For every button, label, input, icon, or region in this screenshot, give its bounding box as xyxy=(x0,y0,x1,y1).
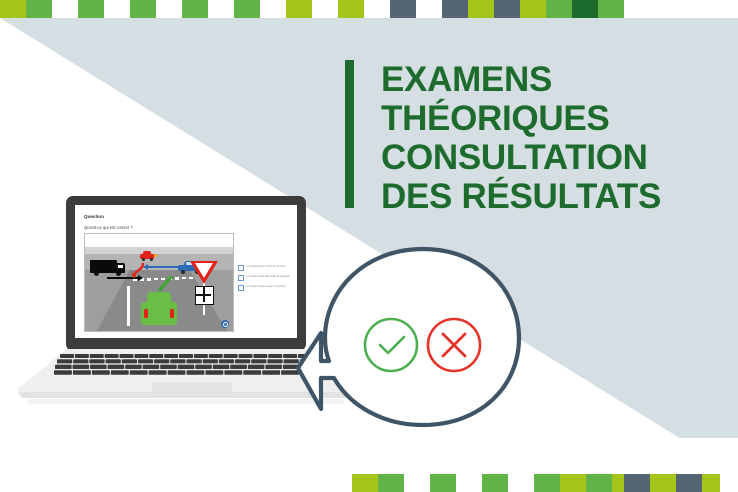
truck-wheel-front xyxy=(116,271,121,276)
keyboard-key xyxy=(209,354,223,358)
laptop-trackpad xyxy=(152,382,232,395)
road-situation-diagram xyxy=(84,233,234,332)
keyboard-key xyxy=(138,359,153,363)
answer-checkbox-2[interactable] xyxy=(238,275,244,281)
strip-segment xyxy=(676,474,702,492)
strip-segment xyxy=(338,0,364,18)
keyboard-key xyxy=(170,359,185,363)
arrow-blue-icon xyxy=(147,266,179,268)
strip-segment xyxy=(598,0,624,18)
red-car-wheel-left xyxy=(142,258,145,261)
strip-segment xyxy=(0,0,26,18)
answer-label-1: Le camion peut continuer sa route xyxy=(247,265,286,268)
green-car-taillight-right xyxy=(170,309,174,318)
keyboard-key xyxy=(73,365,90,369)
strip-segment xyxy=(494,0,520,18)
vehicle-car-green xyxy=(141,292,177,325)
keyboard-key xyxy=(224,354,238,358)
keyboard-key xyxy=(262,370,280,375)
keyboard-key xyxy=(179,354,193,358)
strip-segment xyxy=(352,474,378,492)
strip-segment xyxy=(78,0,104,18)
keyboard-key xyxy=(106,359,121,363)
answer-label-2: La voiture verte doit céder le passage xyxy=(247,275,290,278)
keyboard-key xyxy=(219,359,234,363)
keyboard-key xyxy=(268,354,282,358)
strip-segment xyxy=(390,0,416,18)
strip-segment xyxy=(702,474,720,492)
keyboard-key xyxy=(108,365,125,369)
keyboard-key xyxy=(187,370,205,375)
keyboard-key xyxy=(213,365,230,369)
keyboard-key xyxy=(203,359,218,363)
green-car-taillight-left xyxy=(144,309,148,318)
strip-segment xyxy=(572,0,598,18)
keyboard-key xyxy=(195,365,212,369)
keyboard-key xyxy=(54,370,72,375)
keyboard-key xyxy=(130,370,148,375)
vehicle-car-red xyxy=(140,250,154,259)
question-label: Question xyxy=(84,214,104,219)
answer-option-list: Le camion peut continuer sa route La voi… xyxy=(238,265,290,295)
red-car-wheel-right xyxy=(150,258,153,261)
laptop-keyboard xyxy=(54,354,318,378)
amber-light-icon xyxy=(154,254,157,257)
keyboard-key xyxy=(251,359,266,363)
lane-dash-7 xyxy=(175,277,179,280)
strip-segment xyxy=(378,474,404,492)
strip-segment xyxy=(286,0,312,18)
scene-sky xyxy=(85,234,233,247)
keyboard-key xyxy=(55,365,72,369)
keyboard-key xyxy=(230,365,247,369)
keyboard-key xyxy=(149,354,163,358)
decorative-strip-top xyxy=(0,0,738,18)
strip-segment xyxy=(520,0,546,18)
answer-checkbox-1[interactable] xyxy=(238,265,244,271)
keyboard-key xyxy=(90,354,104,358)
yield-sign-inner xyxy=(195,263,213,278)
strip-segment xyxy=(182,0,208,18)
keyboard-key xyxy=(239,354,253,358)
keyboard-key xyxy=(143,365,160,369)
blue-car-wheel-left xyxy=(181,270,185,274)
strip-segment xyxy=(546,0,572,18)
keyboard-key xyxy=(154,359,169,363)
decorative-strip-bottom xyxy=(0,474,738,492)
keyboard-key xyxy=(122,359,137,363)
keyboard-key xyxy=(267,359,282,363)
crossroads-bar-h xyxy=(196,294,211,296)
red-car-roof xyxy=(143,251,151,255)
strip-segment xyxy=(624,474,650,492)
lane-centre-line xyxy=(127,286,130,326)
keyboard-key xyxy=(235,359,250,363)
keyboard-key xyxy=(224,370,242,375)
keyboard-key xyxy=(194,354,208,358)
strip-segment xyxy=(534,474,560,492)
answer-label-3: La voiture bleue passe en premier xyxy=(247,285,286,288)
page-title: EXAMENS THÉORIQUES CONSULTATION DES RÉSU… xyxy=(381,60,661,216)
strip-segment xyxy=(234,0,260,18)
question-text: Qu'est-ce qui est correct ? xyxy=(84,225,133,230)
magnifier-icon[interactable] xyxy=(221,320,229,328)
keyboard-key xyxy=(186,359,201,363)
lane-dash-8 xyxy=(182,277,186,280)
keyboard-key xyxy=(57,359,72,363)
keyboard-key xyxy=(265,365,282,369)
keyboard-key xyxy=(60,354,74,358)
keyboard-key xyxy=(92,370,110,375)
laptop-screen: Question Qu'est-ce qui est correct ? xyxy=(75,205,297,338)
list-item[interactable]: La voiture bleue passe en premier xyxy=(238,285,290,291)
keyboard-key xyxy=(253,354,267,358)
keyboard-key xyxy=(168,370,186,375)
keyboard-key xyxy=(178,365,195,369)
keyboard-key xyxy=(160,365,177,369)
keyboard-key xyxy=(73,370,91,375)
keyboard-key xyxy=(243,370,261,375)
keyboard-key xyxy=(134,354,148,358)
strip-segment xyxy=(650,474,676,492)
strip-segment xyxy=(586,474,612,492)
keyboard-key xyxy=(89,359,104,363)
title-accent-bar xyxy=(345,60,354,208)
scene-horizon xyxy=(85,247,233,254)
lane-dash-3 xyxy=(147,278,151,281)
truck-wheel-rear xyxy=(94,271,99,276)
poster-canvas: EXAMENS THÉORIQUES CONSULTATION DES RÉSU… xyxy=(0,0,738,492)
result-speech-bubble xyxy=(288,243,524,429)
strip-segment xyxy=(442,0,468,18)
list-item[interactable]: Le camion peut continuer sa route xyxy=(238,265,290,271)
keyboard-key xyxy=(205,370,223,375)
strip-segment xyxy=(482,474,508,492)
keyboard-key xyxy=(120,354,134,358)
strip-segment xyxy=(560,474,586,492)
keyboard-key xyxy=(111,370,129,375)
keyboard-key xyxy=(164,354,178,358)
arrow-green-icon xyxy=(157,276,173,292)
answer-checkbox-3[interactable] xyxy=(238,285,244,291)
strip-segment xyxy=(26,0,52,18)
keyboard-key xyxy=(73,359,88,363)
keyboard-key xyxy=(105,354,119,358)
keyboard-key xyxy=(248,365,265,369)
strip-segment xyxy=(468,0,494,18)
crossroads-sign-icon xyxy=(195,286,214,305)
keyboard-key xyxy=(125,365,142,369)
list-item[interactable]: La voiture verte doit céder le passage xyxy=(238,275,290,281)
truck-window xyxy=(118,265,123,268)
keyboard-key xyxy=(75,354,89,358)
strip-segment xyxy=(430,474,456,492)
keyboard-key xyxy=(149,370,167,375)
strip-segment xyxy=(130,0,156,18)
page-title-block: EXAMENS THÉORIQUES CONSULTATION DES RÉSU… xyxy=(345,60,661,216)
keyboard-key xyxy=(90,365,107,369)
